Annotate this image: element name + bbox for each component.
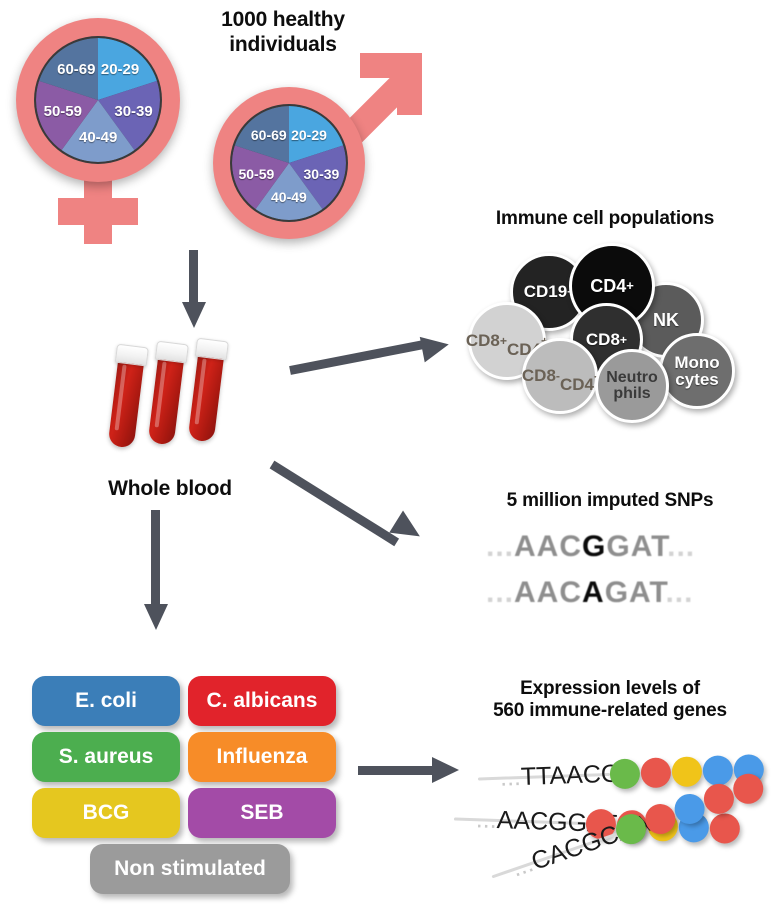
stimulus-bcg[interactable]: BCG: [32, 788, 180, 838]
arrow-shaft: [151, 510, 160, 610]
snp-variant-base: G: [582, 530, 606, 563]
arrow-head: [144, 604, 168, 630]
arrow-shaft: [289, 340, 425, 375]
stimulus-s-aureus[interactable]: S. aureus: [32, 732, 180, 782]
tube-rim: [195, 338, 229, 361]
snp-sequences: ...AACGGAT... ...AACAGAT...: [486, 530, 746, 620]
arrow-shaft: [358, 766, 436, 775]
snp-allele-row: ...AACAGAT...: [486, 576, 693, 610]
stimulus-c-albicans[interactable]: C. albicans: [188, 676, 336, 726]
dna-bead: [640, 757, 671, 788]
age-group-label: 60-69: [57, 61, 95, 78]
arrow-blood-to-snps: [272, 452, 462, 562]
age-group-label: 20-29: [291, 127, 327, 143]
arrow-shaft: [189, 250, 198, 308]
stimulation-panel: E. coli C. albicans S. aureus Influenza …: [32, 676, 332, 898]
tube-blood: [188, 352, 225, 443]
snp-allele-row: ...AACGGAT...: [486, 530, 695, 564]
immune-cell-cd8-cd4-dn: CD8-CD4-: [522, 338, 598, 414]
snp-prefix: ...AAC: [486, 576, 582, 609]
snp-title: 5 million imputed SNPs: [460, 490, 760, 512]
blood-tube: [187, 338, 232, 451]
male-pie-backdrop: 20-2930-3940-4950-5960-69: [230, 104, 348, 222]
stimulus-seb[interactable]: SEB: [188, 788, 336, 838]
stimulus-non-stimulated[interactable]: Non stimulated: [90, 844, 290, 894]
age-group-label: 30-39: [114, 103, 152, 120]
expression-title: Expression levels of 560 immune-related …: [455, 678, 765, 723]
expression-strands: ...TTAACGG ...AACGGAT ...CACGCAA: [460, 740, 770, 910]
blood-tube: [147, 341, 192, 454]
snp-suffix: GAT...: [605, 576, 694, 609]
male-symbol-arrow-head-b: [397, 53, 422, 115]
immune-cell-cluster: CD19+ NK CD4+ CD8+CD4+ CD8+ Monocytes CD…: [465, 245, 765, 420]
snp-variant-base: A: [582, 576, 605, 609]
female-pie-backdrop: 20-2930-3940-4950-5960-69: [34, 36, 162, 164]
age-group-label: 40-49: [271, 189, 307, 205]
snp-prefix: ...AAC: [486, 530, 582, 563]
age-group-label: 50-59: [238, 166, 274, 182]
dna-bead: [729, 770, 767, 808]
tube-rim: [155, 341, 189, 364]
figure-canvas: 1000 healthy individuals 20-2930-3940-49…: [0, 0, 771, 922]
arrow-head: [432, 757, 459, 783]
arrow-cohort-to-blood: [178, 250, 208, 332]
male-age-pie: 20-2930-3940-4950-5960-69: [232, 106, 346, 220]
stimulus-e-coli[interactable]: E. coli: [32, 676, 180, 726]
immune-cell-monocytes: Monocytes: [659, 333, 735, 409]
blood-tube: [107, 344, 152, 457]
snp-suffix: GAT...: [606, 530, 695, 563]
arrow-blood-to-stimuli: [140, 510, 170, 640]
arrow-head: [420, 332, 451, 363]
immune-cell-neutrophils: Neutrophils: [595, 349, 669, 423]
arrow-head: [182, 302, 206, 328]
age-group-label: 30-39: [304, 166, 340, 182]
age-group-label: 20-29: [101, 61, 139, 78]
whole-blood-label: Whole blood: [80, 477, 260, 502]
age-group-label: 40-49: [79, 129, 117, 146]
immune-cell-title: Immune cell populations: [455, 208, 755, 230]
arrow-blood-to-immune: [290, 330, 465, 378]
age-group-label: 50-59: [44, 103, 82, 120]
arrow-shaft: [270, 461, 399, 547]
tube-blood: [108, 358, 145, 449]
male-gender-symbol: 20-2930-3940-4950-5960-69: [205, 55, 420, 255]
tube-rim: [115, 344, 149, 367]
female-age-pie: 20-2930-3940-4950-5960-69: [36, 38, 160, 162]
female-symbol-crossbar: [58, 198, 138, 225]
whole-blood-tubes: [112, 342, 252, 462]
tube-blood: [148, 355, 185, 446]
female-gender-symbol: 20-2930-3940-4950-5960-69: [10, 12, 200, 247]
age-group-label: 60-69: [251, 127, 287, 143]
stimulus-influenza[interactable]: Influenza: [188, 732, 336, 782]
dna-bead: [671, 756, 702, 787]
cohort-title: 1000 healthy individuals: [178, 8, 388, 58]
